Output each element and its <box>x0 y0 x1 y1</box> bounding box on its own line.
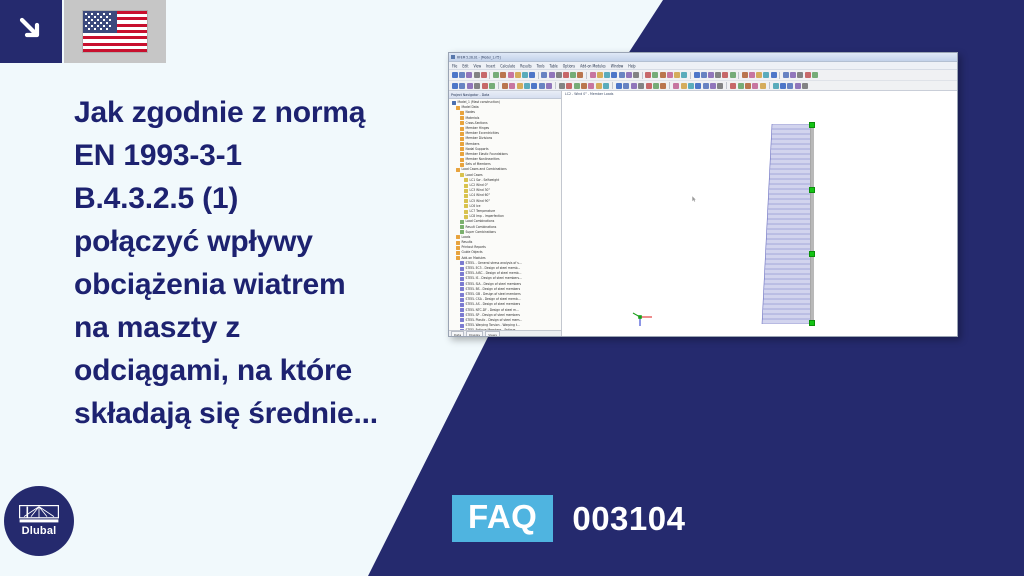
tree-node-icon <box>460 303 464 307</box>
toolbar-button-icon[interactable] <box>694 72 700 78</box>
toolbar-button-icon[interactable] <box>603 83 609 89</box>
app-window-title: RFEM 5.26.01 - [Model_1.rf5] <box>457 54 501 59</box>
toolbar-button-icon[interactable] <box>493 72 499 78</box>
toolbar-button-icon[interactable] <box>500 72 506 78</box>
toolbar-button-icon[interactable] <box>577 72 583 78</box>
toolbar-button-icon[interactable] <box>541 72 547 78</box>
arrow-down-right-icon <box>18 17 44 45</box>
toolbar-button-icon[interactable] <box>467 83 473 89</box>
toolbar-button-icon[interactable] <box>474 72 480 78</box>
slide-canvas: Jak zgodnie z normą EN 1993-3-1 B.4.3.2.… <box>0 0 1024 576</box>
mast-member <box>810 124 814 324</box>
menu-item-file[interactable]: File <box>452 63 457 68</box>
toolbar-button-icon[interactable] <box>559 83 565 89</box>
tree-node-icon <box>460 173 464 177</box>
toolbar-button-icon[interactable] <box>673 83 679 89</box>
tree-node-icon <box>460 318 464 322</box>
toolbar-button-icon[interactable] <box>638 83 644 89</box>
toolbar-button-icon[interactable] <box>752 83 758 89</box>
navigator-tabs[interactable]: DataDisplayViews <box>449 330 561 337</box>
toolbar-button-icon[interactable] <box>539 83 545 89</box>
toolbar-button-icon[interactable] <box>701 72 707 78</box>
toolbar-button-icon[interactable] <box>515 72 521 78</box>
tree-node-icon <box>456 256 460 260</box>
tree-node-icon <box>464 204 468 208</box>
navigator-header: Project Navigator - Data <box>449 91 561 99</box>
page-title: Jak zgodnie z normą EN 1993-3-1 B.4.3.2.… <box>74 91 434 435</box>
tree-node-icon <box>460 225 464 229</box>
menu-item-insert[interactable]: Insert <box>486 63 495 68</box>
menu-item-tools[interactable]: Tools <box>537 63 545 68</box>
tree-node-icon <box>456 246 460 250</box>
tree-node-icon <box>460 116 464 120</box>
tree-node-icon <box>460 147 464 151</box>
toolbar-button-icon[interactable] <box>710 83 716 89</box>
toolbar-button-icon[interactable] <box>703 83 709 89</box>
toolbar-button-icon[interactable] <box>667 72 673 78</box>
toolbar-separator <box>555 82 556 89</box>
application-screenshot: RFEM 5.26.01 - [Model_1.rf5] FileEditVie… <box>448 52 958 337</box>
toolbar-button-icon[interactable] <box>508 72 514 78</box>
truss-frame-icon <box>19 505 59 523</box>
menu-item-window[interactable]: Window <box>611 63 624 68</box>
tree-node-icon <box>460 111 464 115</box>
flag-united-states-icon <box>83 11 147 52</box>
tree-node-icon <box>460 267 464 271</box>
project-navigator[interactable]: Project Navigator - Data Model_1 (Mast c… <box>449 91 562 337</box>
tree-node-icon <box>464 189 468 193</box>
toolbar-button-icon[interactable] <box>749 72 755 78</box>
toolbar-separator <box>669 82 670 89</box>
toolbar-button-icon[interactable] <box>611 72 617 78</box>
menu-item-options[interactable]: Options <box>563 63 575 68</box>
arrow-badge <box>0 0 62 63</box>
navigator-tab-views[interactable]: Views <box>485 331 500 337</box>
toolbar-button-icon[interactable] <box>522 72 528 78</box>
tree-node-icon <box>460 277 464 281</box>
toolbar-button-icon[interactable] <box>570 72 576 78</box>
tree-node-icon <box>452 101 456 105</box>
title-line-7: odciągami, na które <box>74 349 434 392</box>
toolbar-button-icon[interactable] <box>524 83 530 89</box>
toolbar-button-icon[interactable] <box>688 83 694 89</box>
tree-node-icon <box>456 106 460 110</box>
toolbar-button-icon[interactable] <box>787 83 793 89</box>
model-viewport[interactable]: LC2 - Wind 0° - Member Loads <box>562 91 957 337</box>
app-toolbar-secondary[interactable] <box>449 81 957 91</box>
app-menubar[interactable]: FileEditViewInsertCalculateResultsToolsT… <box>449 62 957 70</box>
toolbar-button-icon[interactable] <box>756 72 762 78</box>
app-titlebar: RFEM 5.26.01 - [Model_1.rf5] <box>449 53 957 62</box>
toolbar-separator <box>779 72 780 79</box>
toolbar-button-icon[interactable] <box>742 72 748 78</box>
tree-node-icon <box>460 121 464 125</box>
toolbar-button-icon[interactable] <box>763 72 769 78</box>
node-support <box>809 320 815 326</box>
toolbar-button-icon[interactable] <box>452 83 458 89</box>
toolbar-button-icon[interactable] <box>529 72 535 78</box>
dlubal-logo[interactable]: Dlubal <box>4 486 74 556</box>
tree-node-icon <box>464 194 468 198</box>
faq-tag: FAQ <box>452 495 553 542</box>
menu-item-edit[interactable]: Edit <box>462 63 468 68</box>
title-line-3: B.4.3.2.5 (1) <box>74 177 434 220</box>
node-mid-1 <box>809 187 815 193</box>
toolbar-button-icon[interactable] <box>722 72 728 78</box>
menu-item-add-on-modules[interactable]: Add-on Modules <box>580 63 606 68</box>
toolbar-button-icon[interactable] <box>581 83 587 89</box>
toolbar-separator <box>726 82 727 89</box>
mouse-cursor-icon <box>692 196 696 202</box>
toolbar-separator <box>769 82 770 89</box>
menu-item-results[interactable]: Results <box>520 63 532 68</box>
toolbar-button-icon[interactable] <box>715 72 721 78</box>
toolbar-button-icon[interactable] <box>549 72 555 78</box>
toolbar-button-icon[interactable] <box>783 72 789 78</box>
toolbar-button-icon[interactable] <box>452 72 458 78</box>
toolbar-button-icon[interactable] <box>466 72 472 78</box>
toolbar-button-icon[interactable] <box>616 83 622 89</box>
toolbar-button-icon[interactable] <box>681 72 687 78</box>
toolbar-button-icon[interactable] <box>645 72 651 78</box>
tree-node-icon <box>460 282 464 286</box>
toolbar-button-icon[interactable] <box>760 83 766 89</box>
app-icon <box>451 55 455 59</box>
title-line-5: obciążenia wiatrem <box>74 263 434 306</box>
node-mid-2 <box>809 251 815 257</box>
toolbar-button-icon[interactable] <box>531 83 537 89</box>
toolbar-button-icon[interactable] <box>652 72 658 78</box>
navigator-tab-display[interactable]: Display <box>466 331 483 337</box>
tree-node-label: STEEL Fatigue Members - Fatigue <box>466 328 516 330</box>
tree-node-icon <box>460 313 464 317</box>
toolbar-button-icon[interactable] <box>596 83 602 89</box>
toolbar-button-icon[interactable] <box>489 83 495 89</box>
tree-node-icon <box>460 287 464 291</box>
tree-node-icon <box>460 152 464 156</box>
toolbar-button-icon[interactable] <box>780 83 786 89</box>
toolbar-separator <box>586 72 587 79</box>
toolbar-button-icon[interactable] <box>546 83 552 89</box>
toolbar-button-icon[interactable] <box>797 72 803 78</box>
toolbar-separator <box>498 82 499 89</box>
node-top <box>809 122 815 128</box>
toolbar-separator <box>642 72 643 79</box>
dlubal-logo-text: Dlubal <box>22 525 57 537</box>
tree-node-icon <box>460 158 464 162</box>
toolbar-separator <box>690 72 691 79</box>
toolbar-button-icon[interactable] <box>502 83 508 89</box>
toolbar-button-icon[interactable] <box>626 72 632 78</box>
toolbar-button-icon[interactable] <box>619 72 625 78</box>
tree-node-icon <box>460 261 464 265</box>
tree-node-icon <box>460 324 464 328</box>
menu-item-help[interactable]: Help <box>628 63 635 68</box>
tree-node-icon <box>460 308 464 312</box>
toolbar-button-icon[interactable] <box>717 83 723 89</box>
tree-node-icon <box>460 298 464 302</box>
toolbar-button-icon[interactable] <box>623 83 629 89</box>
flag-canton <box>83 11 117 33</box>
coordinate-axes-icon <box>632 307 654 327</box>
faq-identifier: FAQ 003104 <box>452 495 685 542</box>
tree-node-icon <box>456 168 460 172</box>
menu-item-table[interactable]: Table <box>550 63 558 68</box>
toolbar-button-icon[interactable] <box>566 83 572 89</box>
toolbar-button-icon[interactable] <box>745 83 751 89</box>
tree-node-icon <box>460 142 464 146</box>
toolbar-button-icon[interactable] <box>604 72 610 78</box>
tree-node-icon <box>460 132 464 136</box>
toolbar-button-icon[interactable] <box>633 72 639 78</box>
tree-node-icon <box>460 127 464 131</box>
tree-node-icon <box>464 184 468 188</box>
toolbar-button-icon[interactable] <box>459 83 465 89</box>
tree-node-icon <box>464 199 468 203</box>
menu-item-calculate[interactable]: Calculate <box>500 63 515 68</box>
toolbar-button-icon[interactable] <box>590 72 596 78</box>
toolbar-button-icon[interactable] <box>574 83 580 89</box>
language-flag-block[interactable] <box>64 0 166 63</box>
tree-node-icon <box>460 293 464 297</box>
navigator-tree[interactable]: Model_1 (Mast construction)Model DataNod… <box>449 99 561 330</box>
toolbar-button-icon[interactable] <box>509 83 515 89</box>
toolbar-button-icon[interactable] <box>660 83 666 89</box>
tree-node-icon <box>464 178 468 182</box>
toolbar-button-icon[interactable] <box>597 72 603 78</box>
toolbar-button-icon[interactable] <box>738 83 744 89</box>
toolbar-button-icon[interactable] <box>556 72 562 78</box>
toolbar-button-icon[interactable] <box>482 83 488 89</box>
title-line-8: składają się średnie... <box>74 392 434 435</box>
toolbar-button-icon[interactable] <box>674 72 680 78</box>
toolbar-button-icon[interactable] <box>660 72 666 78</box>
toolbar-button-icon[interactable] <box>631 83 637 89</box>
wind-load-diagram <box>760 124 812 324</box>
toolbar-button-icon[interactable] <box>802 83 808 89</box>
toolbar-button-icon[interactable] <box>730 72 736 78</box>
tree-node-icon <box>464 210 468 214</box>
toolbar-button-icon[interactable] <box>459 72 465 78</box>
toolbar-separator <box>538 72 539 79</box>
toolbar-button-icon[interactable] <box>771 72 777 78</box>
navigator-tab-data[interactable]: Data <box>451 331 464 337</box>
tree-node-icon <box>456 251 460 255</box>
tree-node-icon <box>456 235 460 239</box>
toolbar-button-icon[interactable] <box>812 72 818 78</box>
title-line-6: na maszty z <box>74 306 434 349</box>
toolbar-button-icon[interactable] <box>588 83 594 89</box>
app-toolbar-primary[interactable] <box>449 70 957 81</box>
toolbar-button-icon[interactable] <box>773 83 779 89</box>
tree-node-icon <box>456 241 460 245</box>
toolbar-button-icon[interactable] <box>517 83 523 89</box>
title-line-2: EN 1993-3-1 <box>74 134 434 177</box>
faq-number: 003104 <box>572 500 685 538</box>
toolbar-button-icon[interactable] <box>653 83 659 89</box>
toolbar-button-icon[interactable] <box>795 83 801 89</box>
app-body: Project Navigator - Data Model_1 (Mast c… <box>449 91 957 337</box>
toolbar-button-icon[interactable] <box>474 83 480 89</box>
toolbar-button-icon[interactable] <box>563 72 569 78</box>
title-line-1: Jak zgodnie z normą <box>74 91 434 134</box>
viewport-label: LC2 - Wind 0° - Member Loads <box>565 92 613 96</box>
menu-item-view[interactable]: View <box>474 63 482 68</box>
toolbar-separator <box>612 82 613 89</box>
title-line-4: połączyć wpływy <box>74 220 434 263</box>
toolbar-button-icon[interactable] <box>646 83 652 89</box>
tree-node-icon <box>460 272 464 276</box>
toolbar-button-icon[interactable] <box>681 83 687 89</box>
toolbar-separator <box>738 72 739 79</box>
tree-node-icon <box>460 220 464 224</box>
toolbar-button-icon[interactable] <box>481 72 487 78</box>
toolbar-button-icon[interactable] <box>730 83 736 89</box>
toolbar-button-icon[interactable] <box>708 72 714 78</box>
toolbar-button-icon[interactable] <box>805 72 811 78</box>
toolbar-button-icon[interactable] <box>790 72 796 78</box>
toolbar-separator <box>489 72 490 79</box>
toolbar-button-icon[interactable] <box>695 83 701 89</box>
tree-node-icon <box>460 137 464 141</box>
